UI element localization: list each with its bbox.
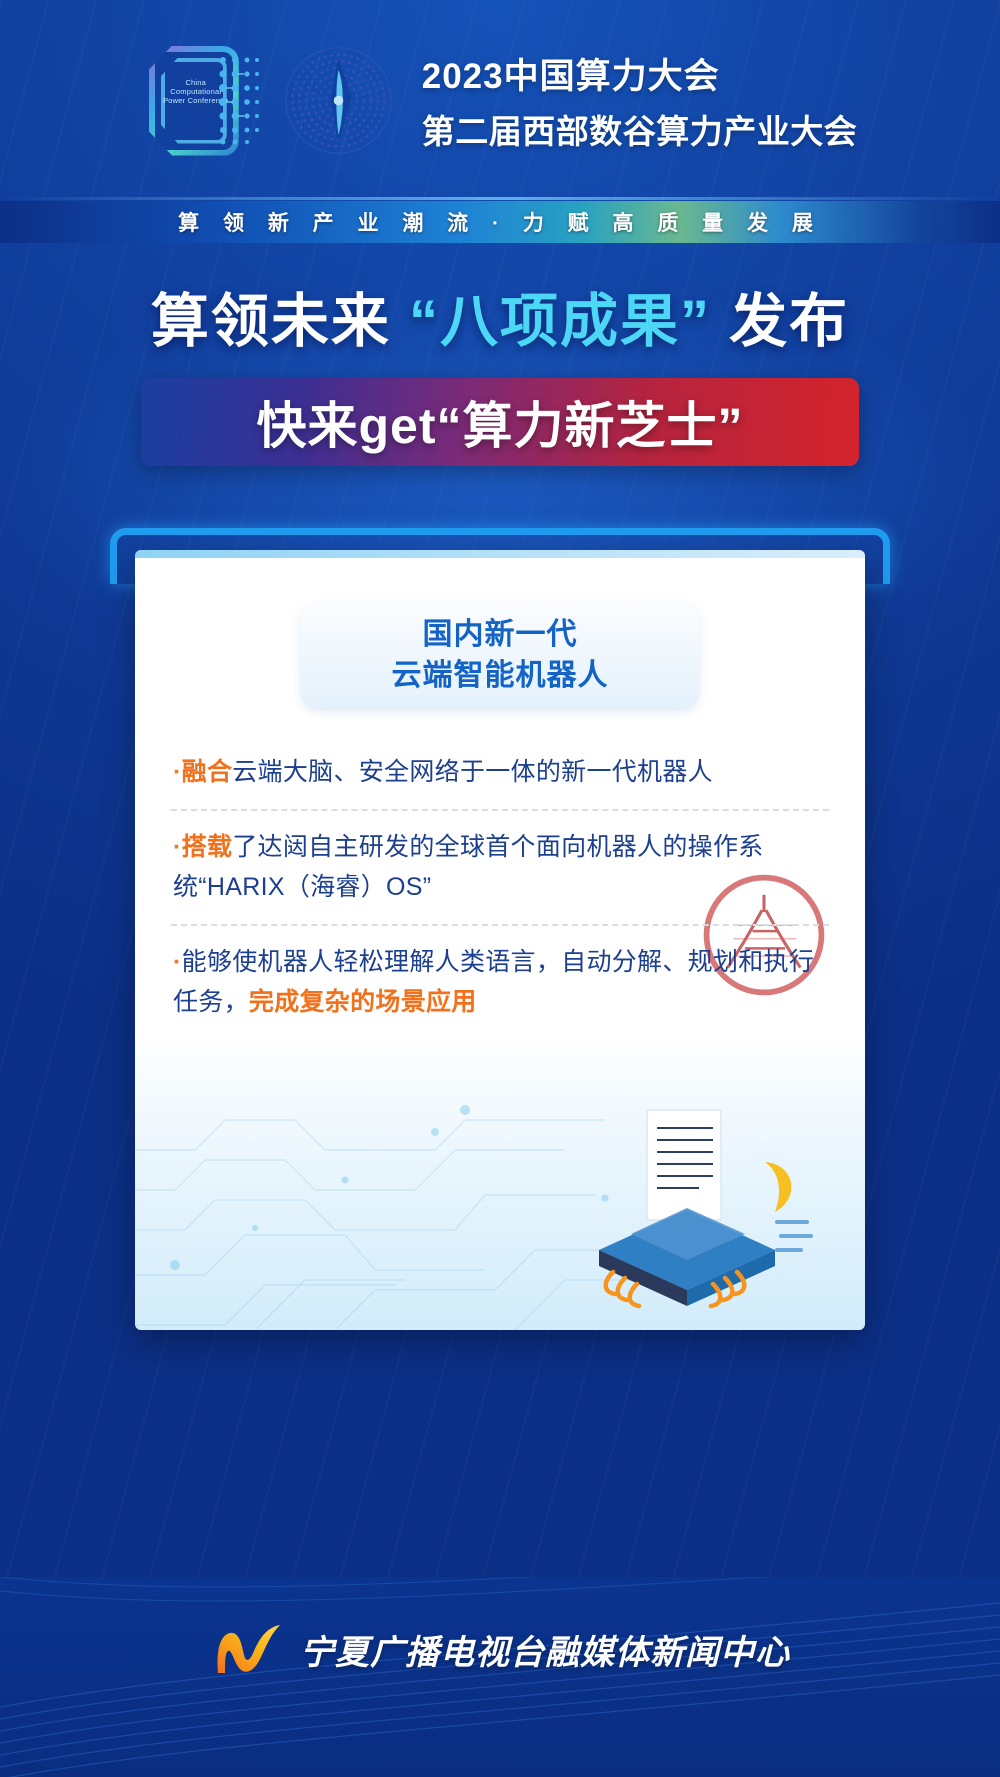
data-fan-logo [281,43,396,158]
slogan-text: 算 领 新 产 业 潮 流 · 力 赋 高 质 量 发 展 [0,203,1000,241]
poster-header: China Computational Power Conference [0,0,1000,195]
card-body: 国内新一代 云端智能机器人 ·融合云端大脑、安全网络于一体的新一代机器人 ·搭载… [135,550,865,1330]
card-title-pill: 国内新一代 云端智能机器人 [300,602,700,711]
main-title-line1-accent: “八项成果” [409,289,711,354]
main-title-line2: 快来get“算力新芝士” [257,386,744,458]
ningxia-n-logo [210,1621,284,1677]
isometric-server-document-illustration [569,1102,819,1312]
bullet-item-3: ·能够使机器人轻松理解人类语言，自动分解、规划和执行任务，完成复杂的场景应用 [171,924,829,1039]
conference-title-line1: 2023中国算力大会 [422,48,858,99]
conference-title-line2: 第二届西部数谷算力产业大会 [422,105,858,153]
slogan-bar-wrap: 算 领 新 产 业 潮 流 · 力 赋 高 质 量 发 展 [0,195,1000,255]
bullet-item-1: ·融合云端大脑、安全网络于一体的新一代机器人 [171,736,829,809]
bullet-text: 云端大脑、安全网络于一体的新一代机器人 [232,758,713,786]
header-title-group: 2023中国算力大会 第二届西部数谷算力产业大会 [422,48,858,153]
card-title-line1: 国内新一代 [310,614,690,655]
main-title-line1-pre: 算领未来 [151,289,391,354]
bullet-marker: · [173,833,182,861]
logo-group: China Computational Power Conference [143,42,396,160]
main-title-line1: 算领未来 “八项成果” 发布 [0,289,1000,356]
card-title-line2: 云端智能机器人 [310,655,690,696]
bullet-highlight: 搭载 [182,833,233,861]
bullet-item-2: ·搭载了达闼自主研发的全球首个面向机器人的操作系统“HARIX（海睿）OS” [171,809,829,924]
footer-title: 宁夏广播电视台融媒体新闻中心 [300,1625,790,1674]
china-computational-power-conference-logo: China Computational Power Conference [143,42,263,160]
bullet-marker: · [173,948,182,976]
card-top-strip [135,550,865,558]
footer-content: 宁夏广播电视台融媒体新闻中心 [0,1621,1000,1677]
result-card: 国内新一代 云端智能机器人 ·融合云端大脑、安全网络于一体的新一代机器人 ·搭载… [110,528,890,1338]
bullet-text: 了达闼自主研发的全球首个面向机器人的操作系统“HARIX（海睿）OS” [173,833,764,902]
main-title-block: 算领未来 “八项成果” 发布 快来get“算力新芝士” [0,289,1000,466]
main-title-line1-post: 发布 [729,289,849,354]
poster-footer: 宁夏广播电视台融媒体新闻中心 [0,1577,1000,1777]
poster-root: China Computational Power Conference [0,0,1000,1777]
logo-dot-matrix [217,52,263,150]
footer-wave-pattern [0,1577,1000,1777]
bullet-highlight: 融合 [182,758,233,786]
bullet-tail-highlight: 完成复杂的场景应用 [249,988,477,1016]
bullet-marker: · [173,758,182,786]
card-bullet-list: ·融合云端大脑、安全网络于一体的新一代机器人 ·搭载了达闼自主研发的全球首个面向… [171,736,829,1039]
main-title-line2-banner: 快来get“算力新芝士” [141,378,859,466]
